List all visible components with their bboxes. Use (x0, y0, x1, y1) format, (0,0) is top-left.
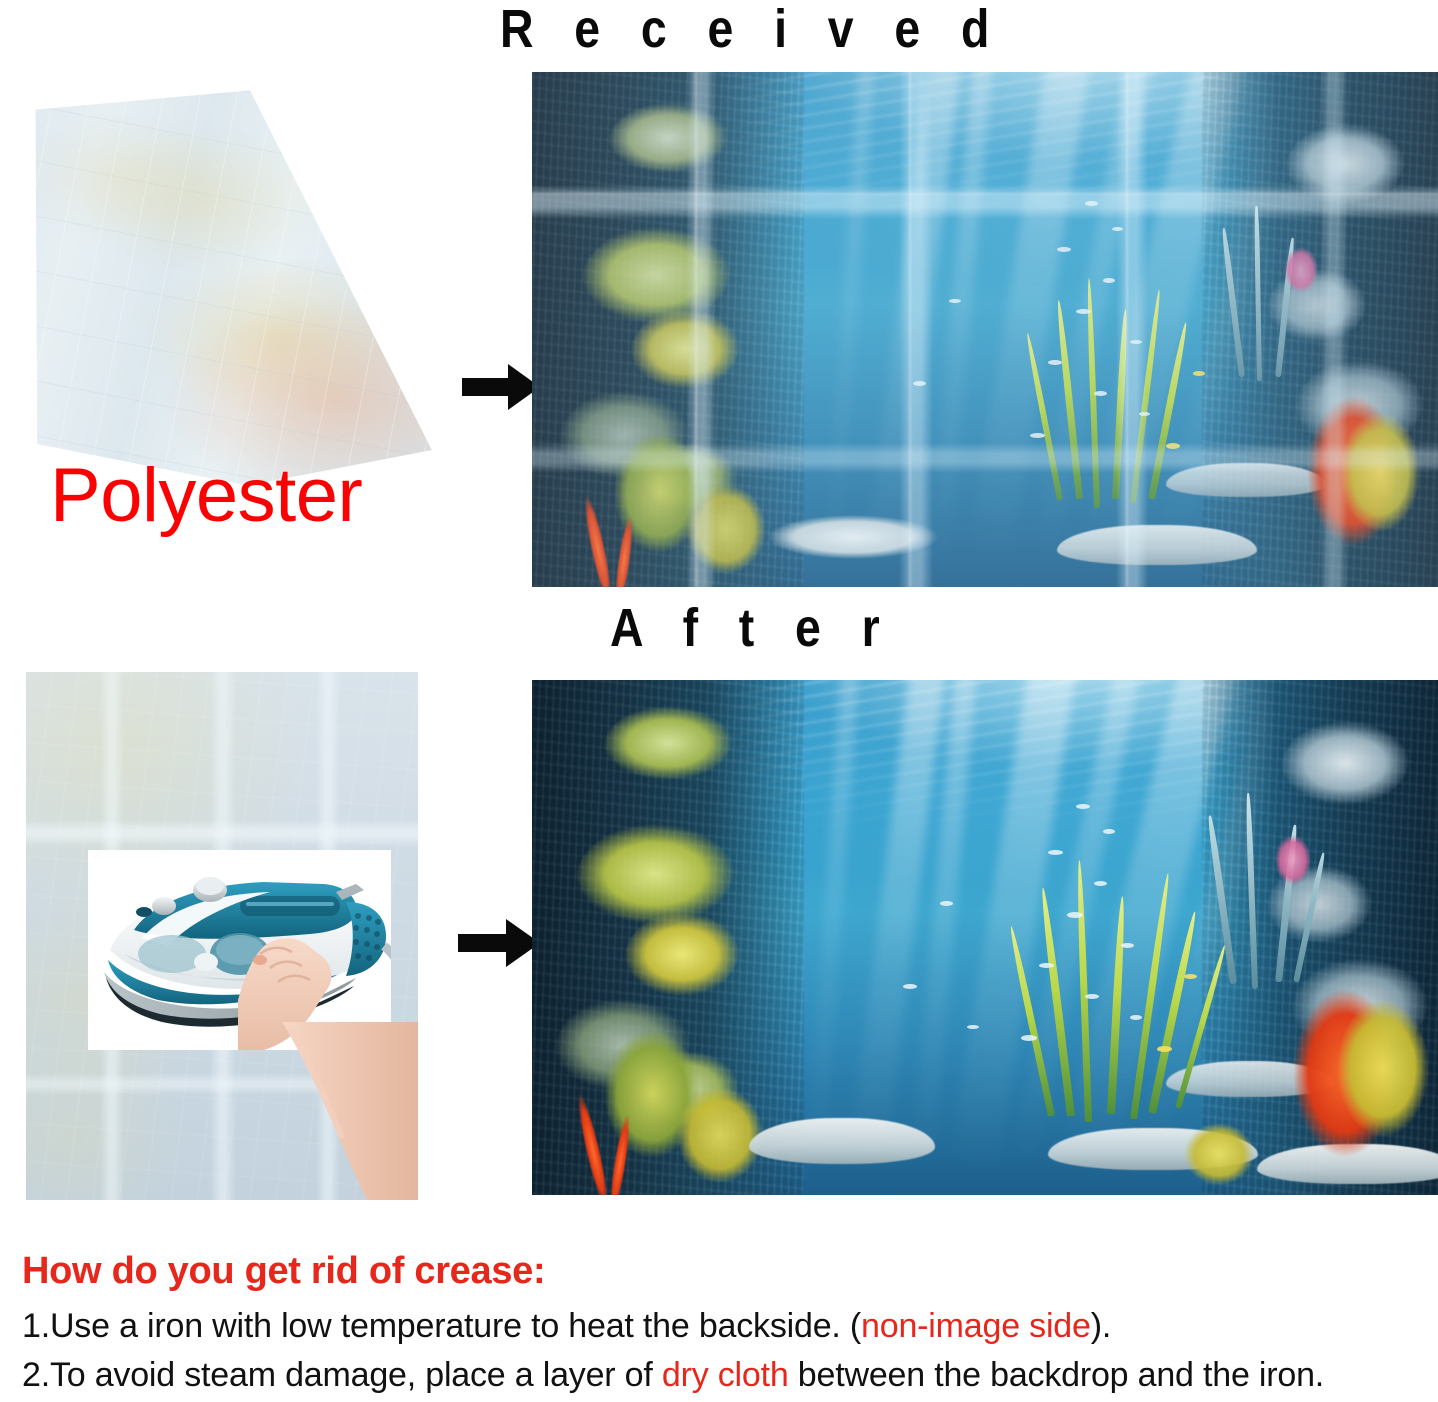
coral-yellow-right (1337, 999, 1429, 1137)
coral-yellow-low (1184, 1123, 1254, 1185)
after-backdrop-photo (532, 680, 1438, 1195)
instruction-step-1: 1.Use a iron with low temperature to hea… (22, 1304, 1422, 1349)
instruction-step-2: 2.To avoid steam damage, place a layer o… (22, 1353, 1422, 1398)
steam-iron-icon (88, 850, 391, 1050)
step2-highlight: dry cloth (662, 1356, 789, 1394)
after-heading: A f t e r (610, 597, 894, 659)
instructions-block: How do you get rid of crease: 1.Use a ir… (22, 1252, 1422, 1398)
folded-polyester-fabric (18, 88, 436, 488)
polyester-material-label: Polyester (50, 458, 362, 534)
instructions-title: How do you get rid of crease: (22, 1252, 1422, 1292)
ironing-demo (26, 672, 418, 1200)
reef-scene-received (532, 72, 1438, 587)
arrow-right-icon (458, 917, 540, 969)
arrow-right-icon (462, 362, 540, 412)
step1-highlight: non-image side (861, 1307, 1091, 1345)
infographic-canvas: R e c e i v e d Polyester (0, 0, 1438, 1402)
fabric-fold-lines (18, 88, 436, 488)
reef-scene-after (532, 680, 1438, 1195)
coral-pink (1275, 835, 1311, 885)
received-backdrop-photo (532, 72, 1438, 587)
step2-text-b: between the backdrop and the iron. (789, 1356, 1325, 1394)
received-heading: R e c e i v e d (500, 0, 1003, 60)
step2-text-a: 2.To avoid steam damage, place a layer o… (22, 1356, 662, 1394)
step1-text-a: 1.Use a iron with low temperature to hea… (22, 1307, 861, 1345)
iron-product-inset (88, 850, 391, 1050)
forearm (272, 1022, 418, 1200)
step1-text-b: ). (1091, 1307, 1111, 1345)
coral-yellow (677, 1087, 763, 1183)
